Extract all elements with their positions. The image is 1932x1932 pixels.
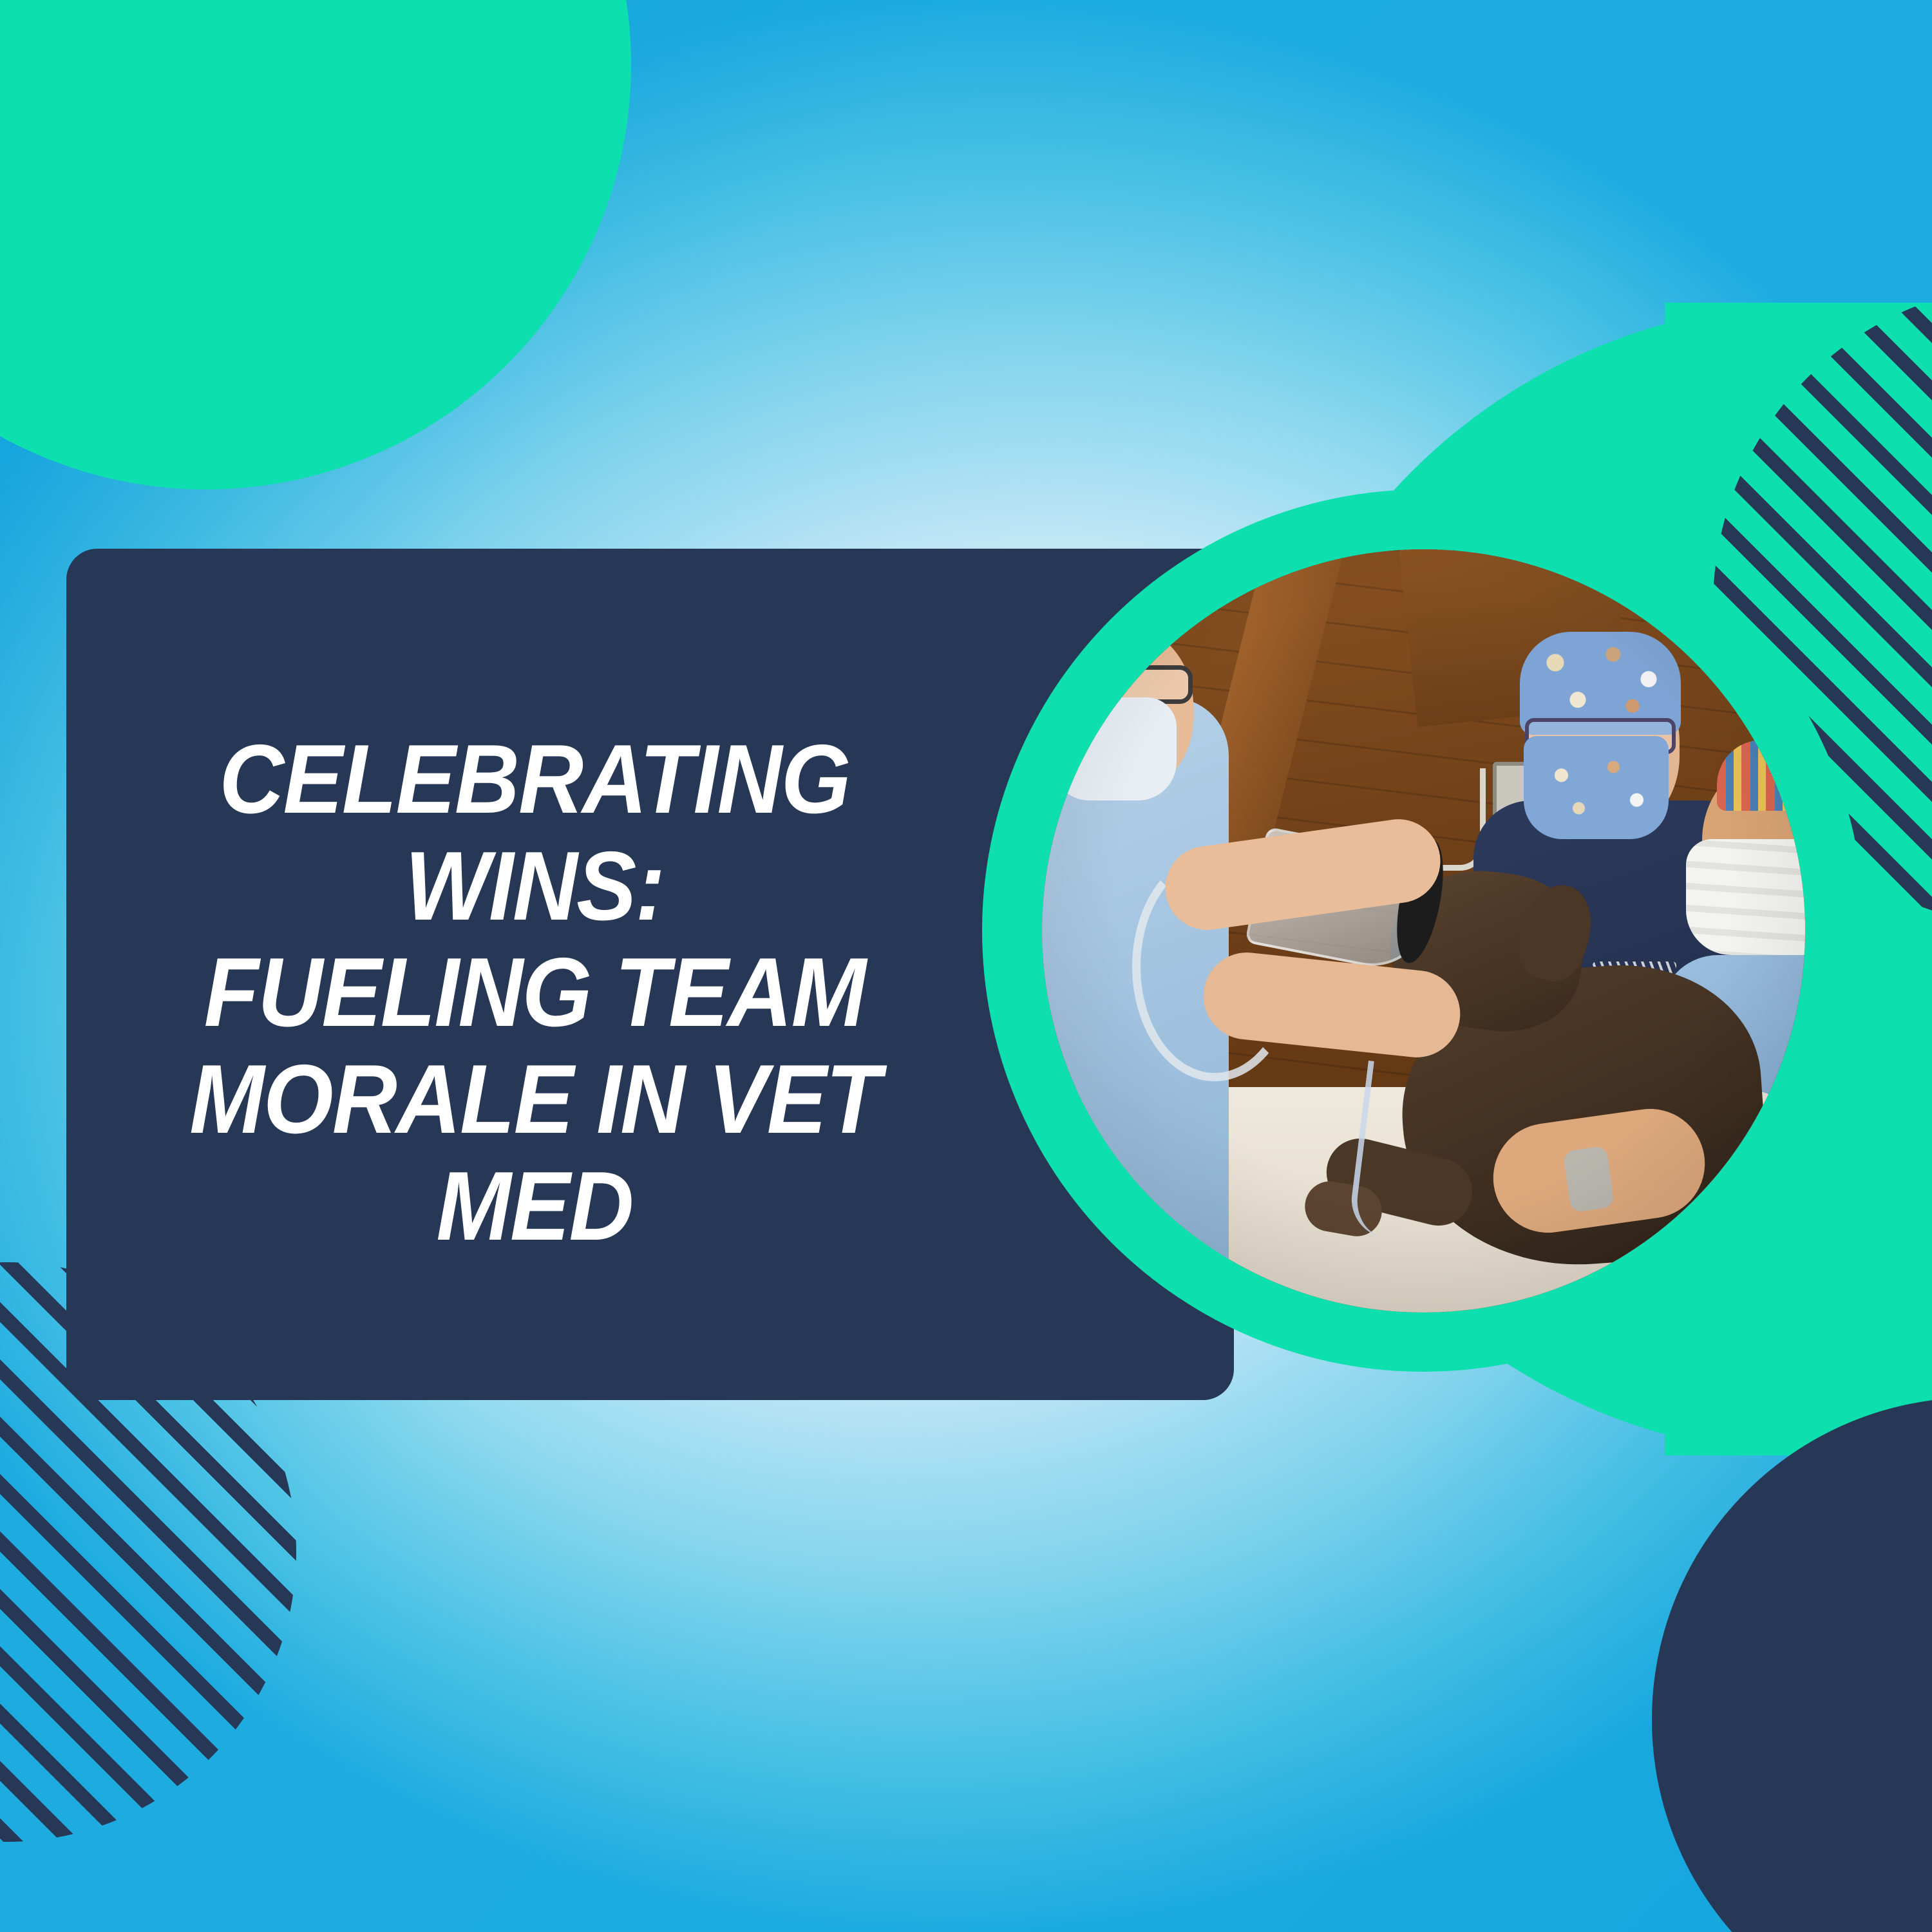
poster-title: CELEBRATING WINS: FUELING TEAM MORALE IN… <box>144 726 925 1260</box>
photo-vignette <box>1042 549 1805 1312</box>
social-media-poster: CELEBRATING WINS: FUELING TEAM MORALE IN… <box>0 0 1932 1932</box>
photo-medallion-ring <box>982 489 1864 1372</box>
veterinary-team-photo <box>1042 549 1805 1312</box>
